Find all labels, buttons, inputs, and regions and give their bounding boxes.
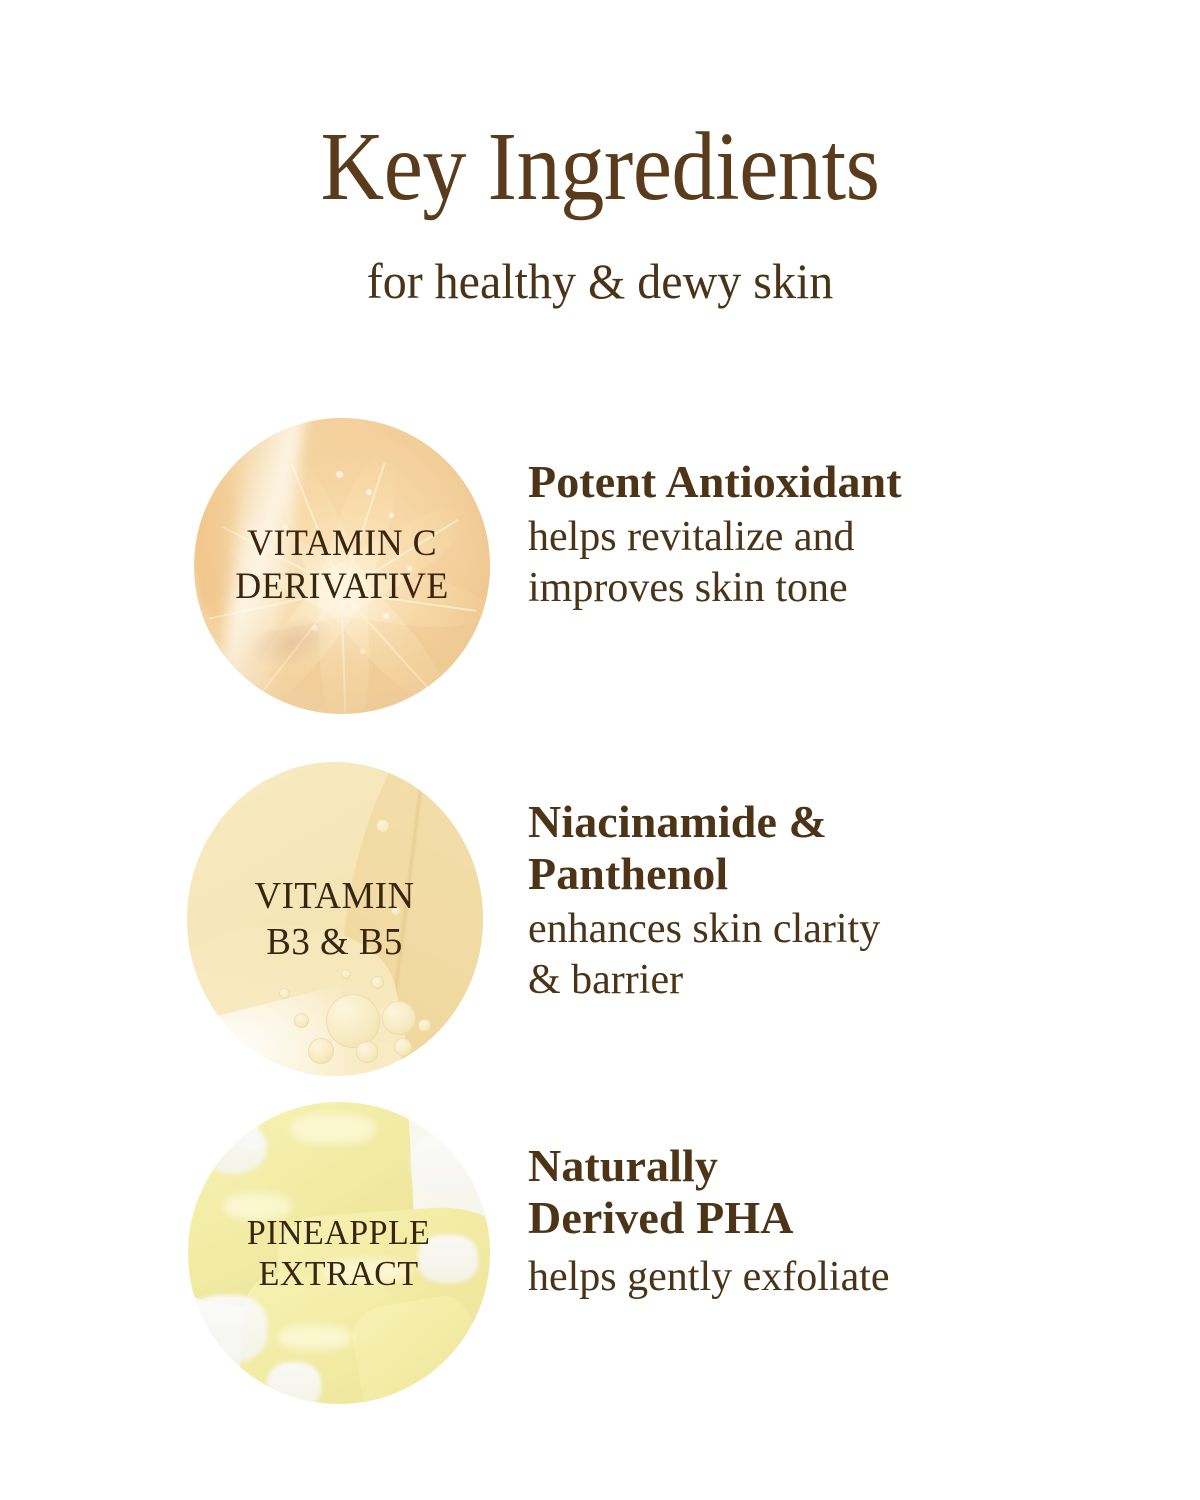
badge-label: VITAMIN C DERIVATIVE <box>226 523 459 609</box>
ingredient-row: PINEAPPLE EXTRACT Naturally Derived PHA … <box>0 1096 1200 1436</box>
badge-label-line-1: VITAMIN C <box>247 523 437 564</box>
badge-label-line-2: DERIVATIVE <box>235 566 449 607</box>
badge-label-line-2: B3 & B5 <box>267 921 404 963</box>
ingredient-heading-line-1: Naturally <box>528 1140 718 1191</box>
ingredient-heading: Niacinamide & Panthenol <box>528 796 880 900</box>
page-header: Key Ingredients for healthy & dewy skin <box>0 0 1200 306</box>
ingredient-badge-vitamin-b: VITAMIN B3 & B5 <box>187 762 483 1076</box>
ingredient-body: enhances skin clarity & barrier <box>528 900 880 1006</box>
ingredient-body: helps revitalize and improves skin tone <box>528 508 902 614</box>
badge-label-line-1: VITAMIN <box>255 875 415 917</box>
badge-label: VITAMIN B3 & B5 <box>245 873 425 966</box>
ingredient-body-line-1: enhances skin clarity <box>528 906 880 952</box>
ingredient-heading-line-2: Derived PHA <box>528 1192 794 1243</box>
ingredient-row: VITAMIN B3 & B5 Niacinamide & Panthenol … <box>0 756 1200 1096</box>
ingredient-heading-line-2: Panthenol <box>528 848 728 899</box>
ingredient-body: helps gently exfoliate <box>528 1244 890 1303</box>
page-title: Key Ingredients <box>60 118 1140 216</box>
ingredient-badge-vitamin-c: VITAMIN C DERIVATIVE <box>194 418 490 714</box>
ingredient-copy: Niacinamide & Panthenol enhances skin cl… <box>528 796 880 1006</box>
ingredient-row: VITAMIN C DERIVATIVE Potent Antioxidant … <box>0 404 1200 756</box>
ingredient-copy: Naturally Derived PHA helps gently exfol… <box>528 1140 890 1303</box>
ingredient-body-line-1: helps revitalize and <box>528 514 855 560</box>
badge-label: PINEAPPLE EXTRACT <box>238 1212 441 1295</box>
ingredient-body-line-2: & barrier <box>528 957 683 1003</box>
badge-label-line-1: PINEAPPLE <box>247 1213 431 1252</box>
ingredient-body-line-2: improves skin tone <box>528 565 848 611</box>
badge-label-line-2: EXTRACT <box>259 1254 419 1293</box>
ingredient-list: VITAMIN C DERIVATIVE Potent Antioxidant … <box>0 404 1200 1436</box>
ingredient-copy: Potent Antioxidant helps revitalize and … <box>528 456 902 614</box>
ingredient-heading-line-1: Niacinamide & <box>528 796 827 847</box>
ingredient-badge-pineapple: PINEAPPLE EXTRACT <box>188 1102 490 1404</box>
ingredient-body-line-1: helps gently exfoliate <box>528 1254 890 1300</box>
page-subtitle: for healthy & dewy skin <box>24 216 1176 306</box>
ingredient-heading: Potent Antioxidant <box>528 456 902 508</box>
ingredient-heading: Naturally Derived PHA <box>528 1140 890 1244</box>
